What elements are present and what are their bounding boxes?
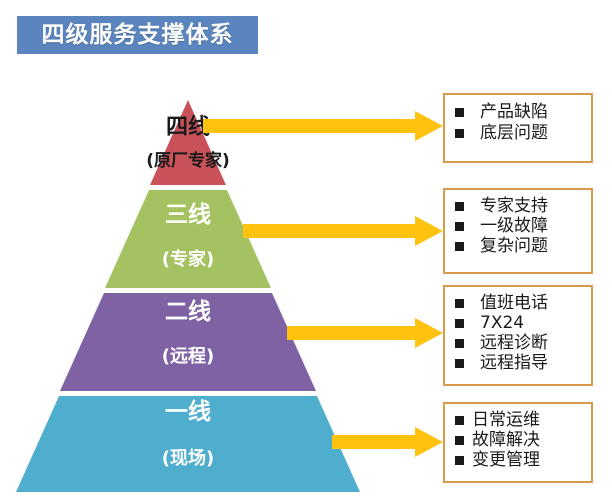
callout-item: 复杂问题 — [455, 238, 583, 256]
callout-item-label: 专家支持 — [480, 198, 548, 216]
callout-item: 远程诊断 — [455, 335, 583, 353]
bullet-square-icon — [455, 222, 464, 231]
callout-item: 专家支持 — [455, 198, 583, 216]
callout-item-label: 复杂问题 — [480, 238, 548, 256]
arrow-right-icon-tier-4 — [203, 111, 443, 141]
callout-item: 变更管理 — [455, 452, 583, 470]
callout-item: 产品缺陷 — [455, 104, 583, 122]
bullet-square-icon — [455, 319, 464, 328]
callout-item-label: 7X24 — [480, 315, 524, 333]
callout-item-label: 底层问题 — [480, 125, 548, 143]
bullet-square-icon — [455, 129, 464, 138]
bullet-square-icon — [455, 339, 464, 348]
callout-item: 故障解决 — [455, 432, 583, 450]
callout-box-tier-3: 专家支持 一级故障 复杂问题 — [443, 188, 593, 274]
callout-item-label: 故障解决 — [472, 432, 540, 450]
callout-box-tier-1: 日常运维 故障解决 变更管理 — [443, 402, 593, 483]
bullet-square-icon — [455, 242, 464, 251]
bullet-square-icon — [455, 456, 464, 465]
callout-item-label: 远程指导 — [480, 355, 548, 373]
bullet-square-icon — [455, 108, 464, 117]
page-title: 四级服务支撑体系 — [42, 24, 234, 47]
callout-item-label: 值班电话 — [480, 295, 548, 313]
callout-item: 值班电话 — [455, 295, 583, 313]
callout-item: 日常运维 — [455, 412, 583, 430]
callout-box-tier-4: 产品缺陷 底层问题 — [443, 93, 593, 163]
callout-item-label: 日常运维 — [472, 412, 540, 430]
page-title-banner: 四级服务支撑体系 — [17, 16, 258, 54]
bullet-square-icon — [455, 299, 464, 308]
callout-item: 一级故障 — [455, 218, 583, 236]
pyramid-tier-2-shape — [60, 293, 316, 391]
callout-item-label: 产品缺陷 — [480, 104, 548, 122]
callout-item: 远程指导 — [455, 355, 583, 373]
callout-box-tier-2: 值班电话 7X24 远程诊断 远程指导 — [443, 285, 593, 386]
arrow-right-icon-tier-1 — [332, 427, 443, 457]
callout-item-label: 远程诊断 — [480, 335, 548, 353]
callout-item: 底层问题 — [455, 125, 583, 143]
arrow-right-icon-tier-2 — [287, 318, 443, 348]
callout-item-label: 一级故障 — [480, 218, 548, 236]
bullet-square-icon — [455, 436, 464, 445]
pyramid-tier-1-shape — [16, 396, 360, 492]
bullet-square-icon — [455, 202, 464, 211]
callout-item-label: 变更管理 — [472, 452, 540, 470]
bullet-square-icon — [455, 416, 464, 425]
arrow-right-icon-tier-3 — [243, 216, 443, 246]
bullet-square-icon — [455, 359, 464, 368]
callout-item: 7X24 — [455, 315, 583, 333]
